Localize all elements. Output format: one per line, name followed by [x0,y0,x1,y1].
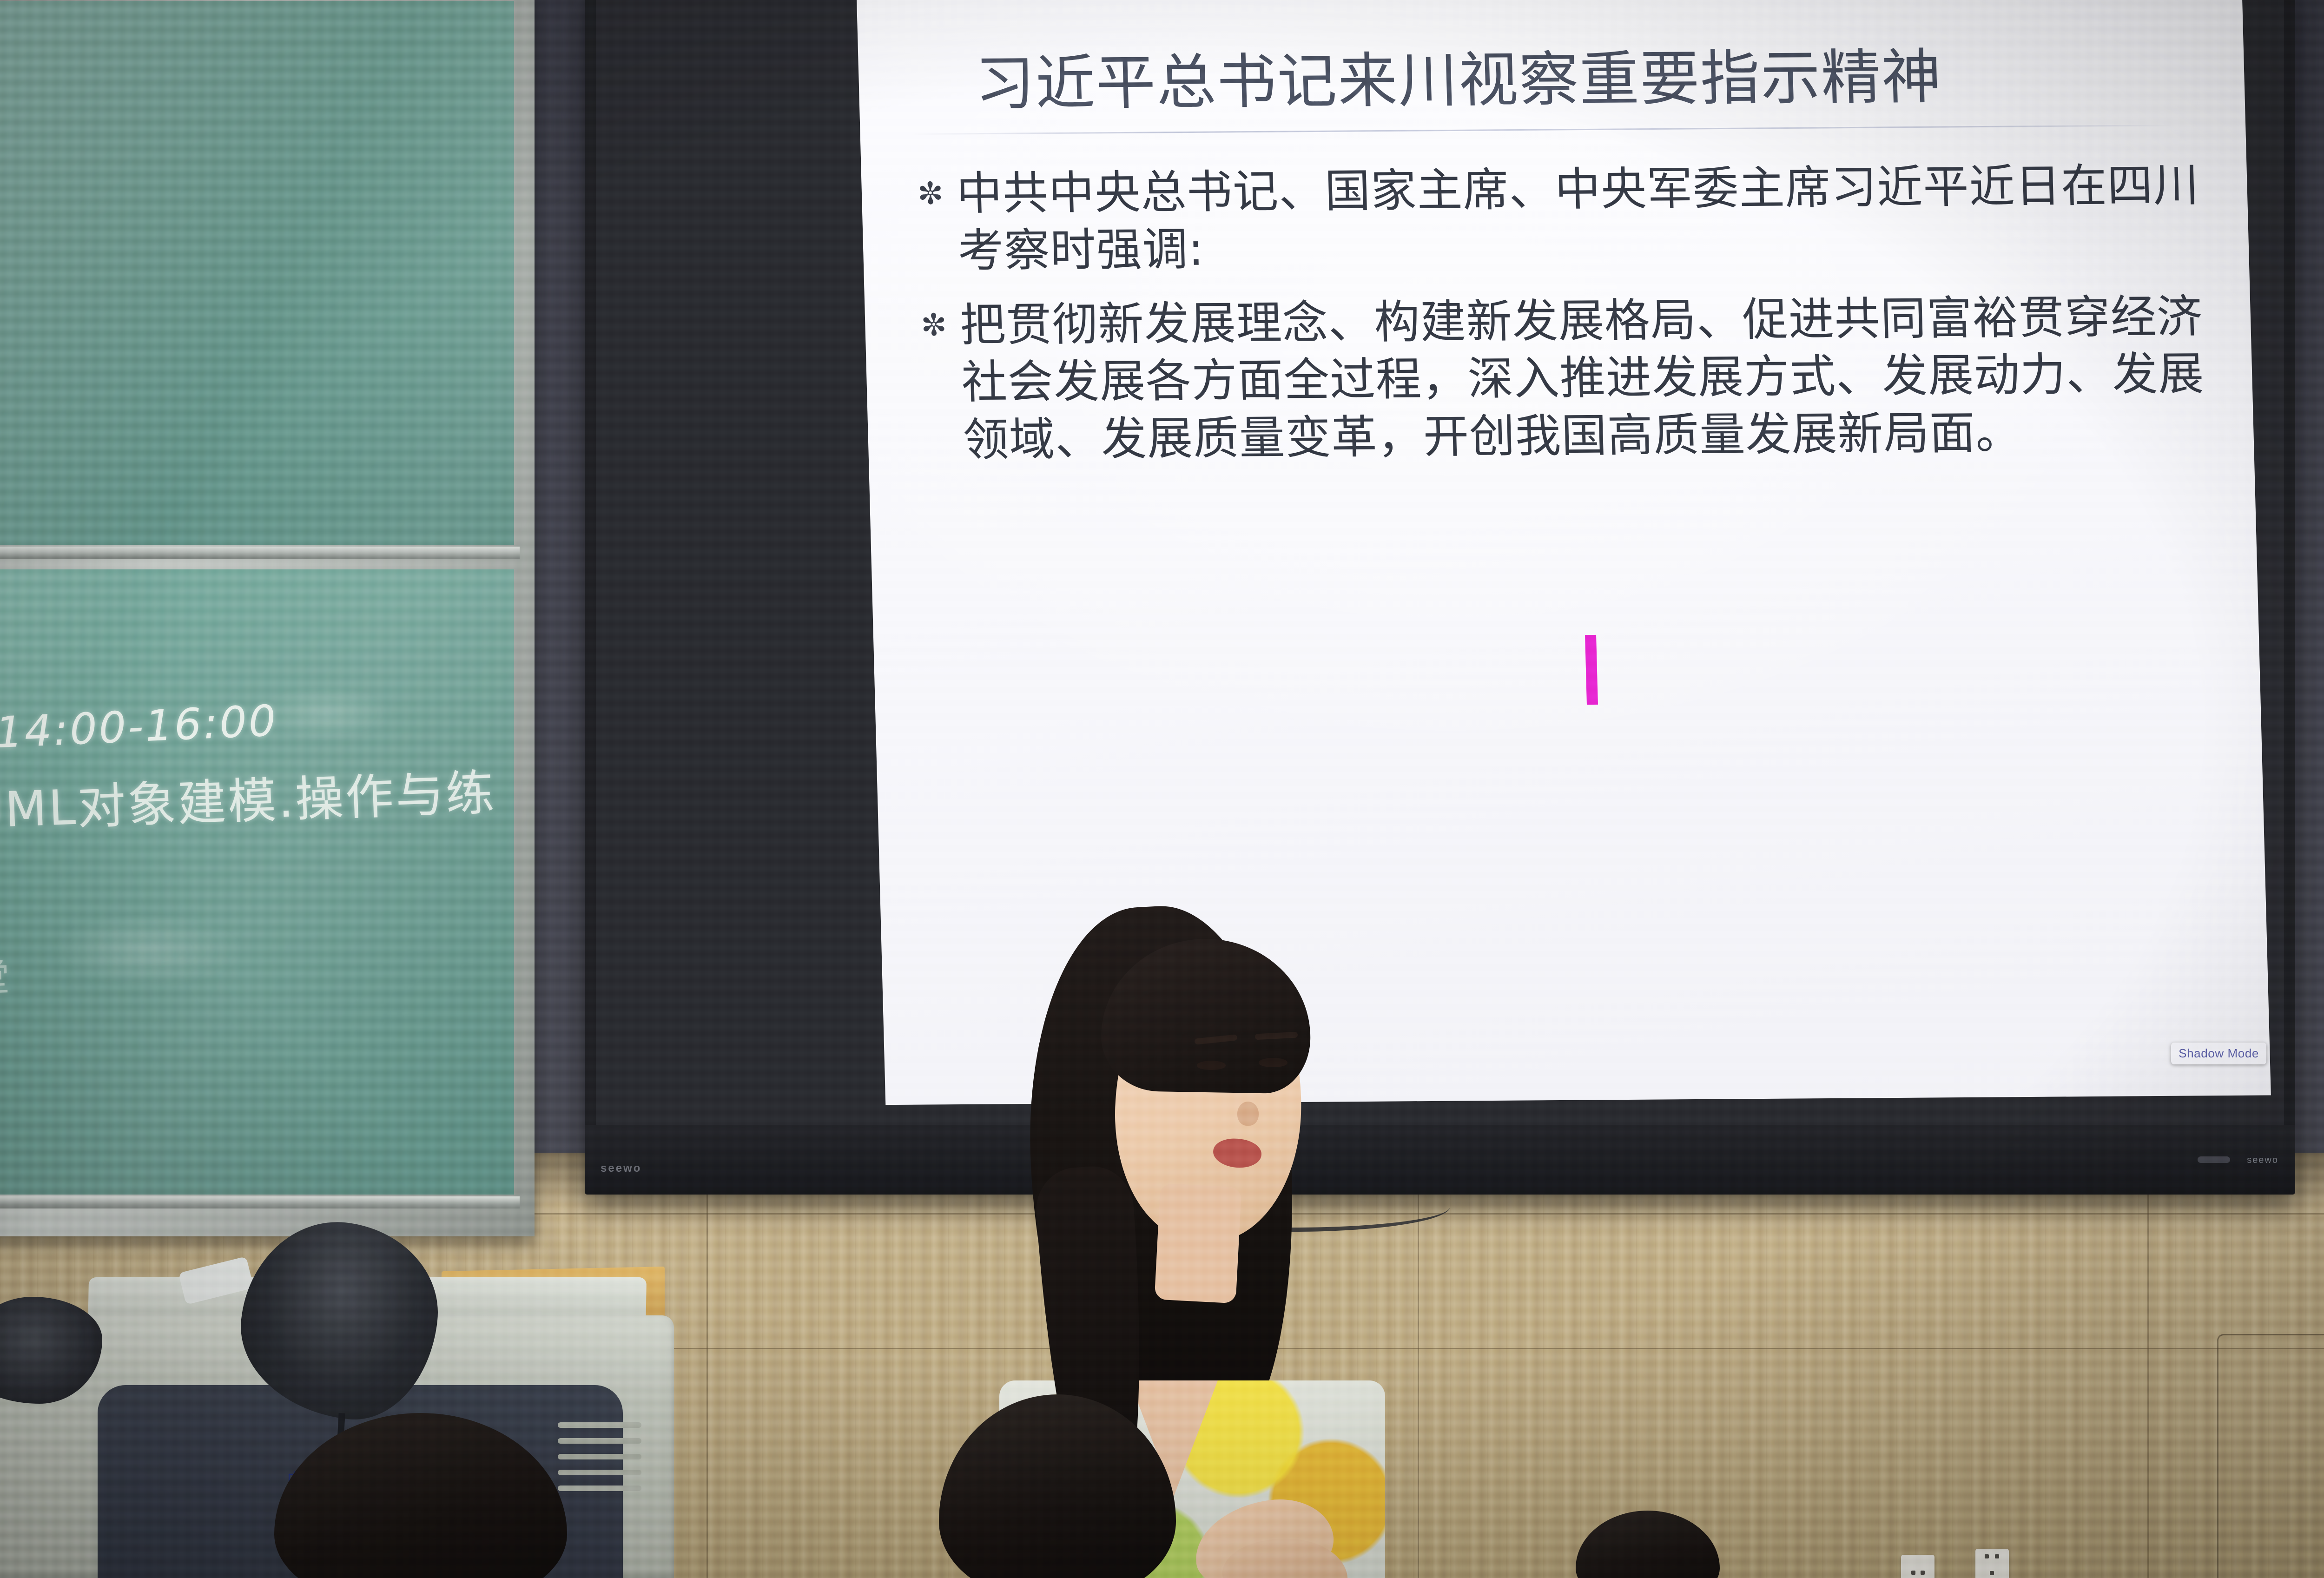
chalk-smudge [50,913,245,988]
slide-bullet-item: ✼ 中共中央总书记、国家主席、中央军委主席习近平近日在四川考察时强调: [917,157,2203,281]
power-outlet[interactable] [1975,1549,2009,1578]
slide-title-underline [911,125,2176,135]
display-brand-logo: seewo [601,1162,641,1175]
blackboard-upper-panel [0,1,514,545]
blackboard-lower-panel [0,569,514,1195]
slide-bullet-item: ✼ 把贯彻新发展理念、构建新发展格局、促进共同富裕贯穿经济社会发展各方面全过程，… [920,289,2208,470]
presenter-neck [1155,1183,1242,1304]
wood-seam [2147,1153,2149,1578]
annotation-cursor-mark [1585,635,1598,705]
shadow-mode-badge[interactable]: Shadow Mode [2171,1043,2266,1064]
bullet-marker-icon: ✼ [920,297,961,344]
interactive-display[interactable]: 习近平总书记来川视察重要指示精神 ✼ 中共中央总书记、国家主席、中央军委主席习近… [585,0,2295,1195]
chalkboard-handwriting-2: 堂 [0,948,12,1003]
slide-bullet-text: 把贯彻新发展理念、构建新发展格局、促进共同富裕贯穿经济社会发展各方面全过程，深入… [959,289,2208,469]
display-bezel: seewo seewo [585,1125,2295,1195]
wood-seam [706,1153,708,1578]
display-brand-logo-right: seewo [2247,1155,2278,1166]
blackboard-chalk-tray [0,1196,520,1208]
bullet-marker-icon: ✼ [917,165,957,213]
ir-sensor-icon [2198,1156,2230,1163]
slide-bullet-text: 中共中央总书记、国家主席、中央军委主席习近平近日在四川考察时强调: [956,157,2203,281]
slide-title: 习近平总书记来川视察重要指示精神 [974,27,2185,121]
display-screen[interactable]: 习近平总书记来川视察重要指示精神 ✼ 中共中央总书记、国家主席、中央军委主席习近… [596,0,2284,1162]
presenter-nose [1237,1102,1259,1126]
slide-bullet-list: ✼ 中共中央总书记、国家主席、中央军委主席习近平近日在四川考察时强调: ✼ 把贯… [917,157,2208,486]
classroom-scene: 14:00-16:00 UML对象建模.操作与练 堂 习近平总书记来川视察重要指… [0,0,2324,1578]
podium-vents [548,1422,641,1506]
wall-niche-panel [2217,1334,2324,1578]
blackboard-divider-rail [0,547,520,559]
power-outlet[interactable] [1901,1555,1934,1578]
presenter-eye [1259,1058,1287,1067]
blackboard: 14:00-16:00 UML对象建模.操作与练 堂 [0,0,535,1236]
presenter-eye [1197,1061,1226,1070]
